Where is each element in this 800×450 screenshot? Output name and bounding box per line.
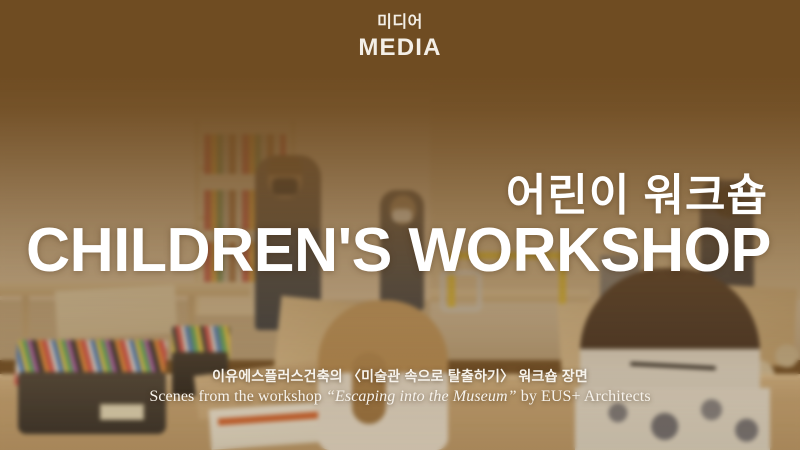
kicker-korean: 미디어	[0, 12, 800, 34]
section-kicker: 미디어 MEDIA	[0, 12, 800, 61]
caption-english-work-title: “Escaping into the Museum”	[326, 388, 517, 405]
caption-english-prefix: Scenes from the workshop	[149, 388, 326, 405]
caption-korean: 이유에스플러스건축의 〈미술관 속으로 탈출하기〉 워크숍 장면	[0, 366, 800, 386]
caption-english-suffix: by EUS+ Architects	[517, 388, 651, 405]
photo-caption: 이유에스플러스건축의 〈미술관 속으로 탈출하기〉 워크숍 장면 Scenes …	[0, 366, 800, 408]
title-english: CHILDREN'S WORKSHOP	[26, 216, 771, 286]
caption-english: Scenes from the workshop “Escaping into …	[0, 386, 800, 408]
title-korean: 어린이 워크숍	[506, 170, 768, 222]
kicker-english: MEDIA	[0, 34, 800, 61]
media-hero-banner: 미디어 MEDIA 어린이 워크숍 CHILDREN'S WORKSHOP 이유…	[0, 0, 800, 450]
